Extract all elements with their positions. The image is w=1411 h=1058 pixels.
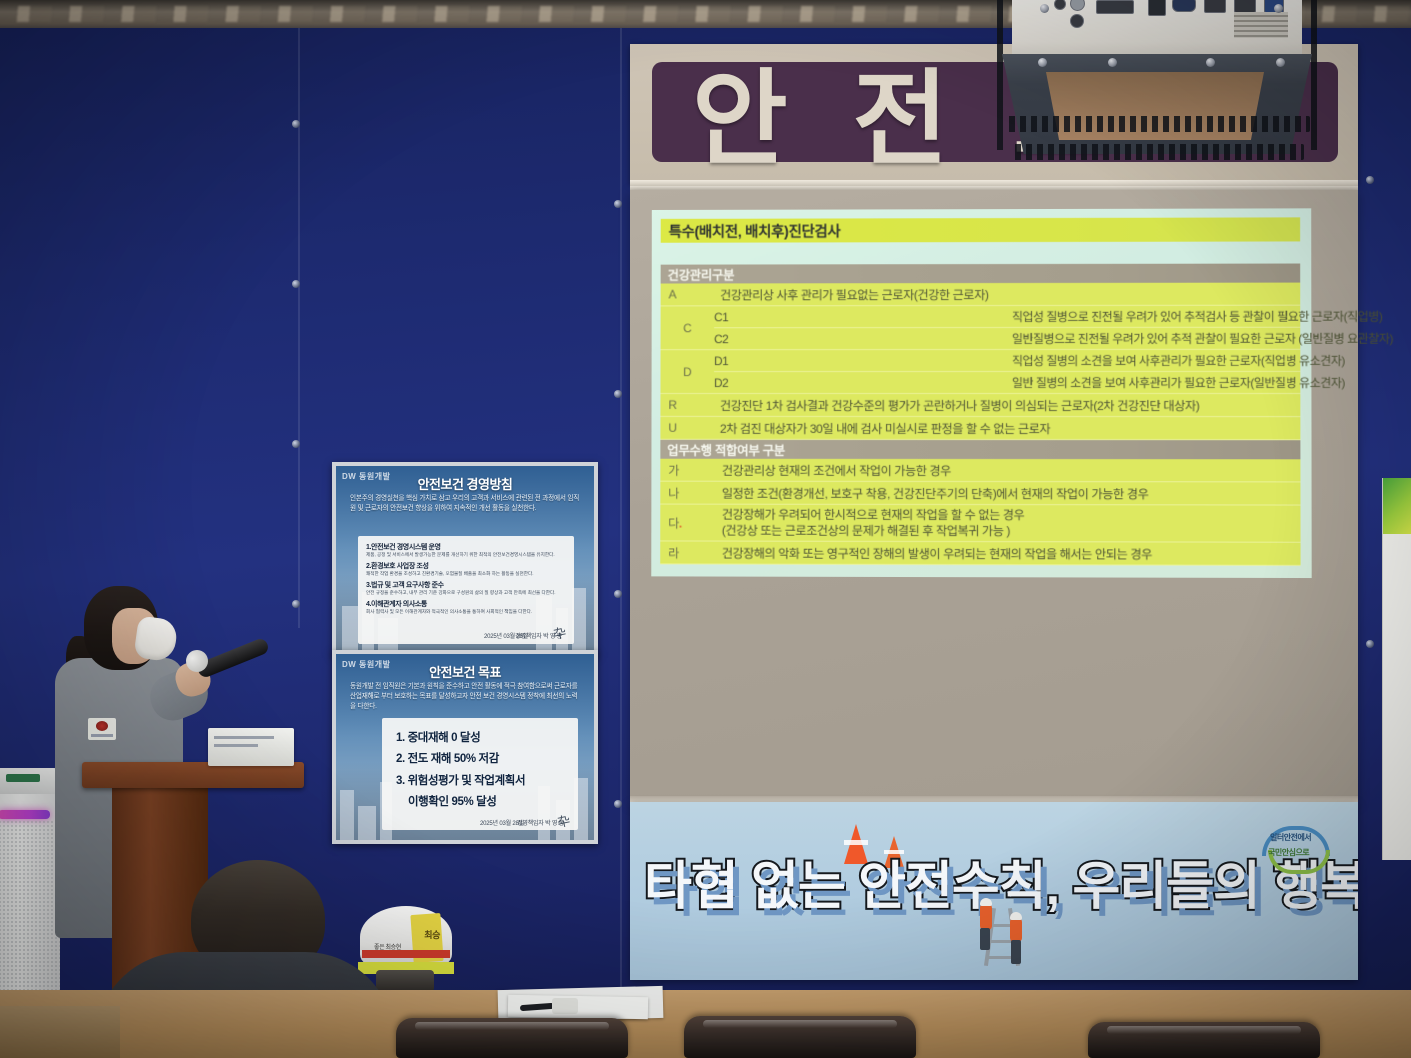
table-row: D D1 직업성 질병의 소견을 보여 사후관리가 필요한 근로자(직업병 유소… — [660, 349, 1300, 371]
helmet-sticker-text: 최승 — [424, 928, 440, 941]
tarp-seam — [620, 28, 622, 988]
projected-slide: 특수(배치전, 배치후)진단검사 건강관리구분 A 건강관리상 사후 관리가 필… — [651, 208, 1311, 578]
poster-title: 안전보건 목표 — [336, 662, 594, 681]
badge-emblem — [96, 721, 108, 731]
ceiling-projector-assembly — [988, 0, 1326, 172]
goal-3: 3. 위험성평가 및 작업계획서 — [396, 771, 568, 792]
health-classification-table: A 건강관리상 사후 관리가 필요없는 근로자(건강한 근로자) C C1 직업… — [660, 283, 1300, 441]
row-code: D — [660, 350, 714, 394]
policy-item-1: 1.안전보건 경영시스템 운영 — [366, 542, 566, 552]
row-desc: 일반질병으로 진전될 우려가 있어 추적 관찰이 필요한 근로자 (일반질병 요… — [1006, 327, 1300, 349]
logo-text-line2: 국민안심으로 — [1268, 847, 1309, 858]
row-subcode: C2 — [714, 327, 1006, 349]
slide-title: 특수(배치전, 배치후)진단검사 — [669, 220, 841, 241]
table-row: 다. 건강장해가 우려되어 한시적으로 현재의 작업을 할 수 없는 경우 (건… — [660, 504, 1300, 542]
kosha-logo: 일터안전에서 국민안심으로 — [1258, 824, 1336, 870]
goal-2: 2. 전도 재해 50% 저감 — [396, 749, 568, 770]
table-row: R 건강진단 1차 검사결과 건강수준의 평가가 곤란하거나 질병이 의심되는 … — [660, 393, 1300, 416]
policy-item-4: 4.이해관계자 의사소통 — [366, 599, 566, 609]
tarp-grommet — [292, 600, 300, 608]
row-desc: 건강진단 1차 검사결과 건강수준의 평가가 곤란하거나 질병이 의심되는 근로… — [714, 393, 1300, 416]
badge-text-line — [91, 734, 113, 737]
table-row: 나 일정한 조건(환경개선, 보호구 착용, 건강진단주기의 단축)에서 현재의… — [660, 481, 1300, 505]
tarp-grommet — [292, 280, 300, 288]
policy-item-4-sub: 회사 협력사 및 모든 이해관계자와 적극적인 의사소통을 통하여 사회적인 책… — [366, 609, 566, 616]
row-code-label: 다 — [668, 517, 679, 531]
row-code: U — [660, 416, 714, 439]
section-header-work-fitness: 업무수행 적합여부 구분 — [660, 440, 1300, 460]
row-desc: 일반 질병의 소견을 보여 사후관리가 필요한 근로자(일반질병 유소견자) — [1006, 371, 1300, 393]
chair-back — [684, 1016, 916, 1058]
table-row: 가 건강관리상 현재의 조건에서 작업이 가능한 경우 — [660, 459, 1300, 482]
table-row: U 2차 검진 대상자가 30일 내에 검사 미실시로 판정을 할 수 없는 근… — [660, 416, 1300, 439]
goal-1: 1. 중대재해 0 달성 — [396, 728, 568, 749]
cone-stripe — [844, 840, 868, 845]
table-row: C C1 직업성 질병으로 진전될 우려가 있어 추적검사 등 관찰이 필요한 … — [661, 305, 1301, 328]
tarp-grommet — [614, 800, 622, 808]
paper-text-line — [214, 736, 274, 739]
policy-item-3-sub: 안전 규정을 준수하고, 내부 관리 기준 강화으로 구성원의 삶의 질 향상과… — [366, 590, 566, 597]
row-code: A — [661, 283, 715, 305]
projector-security-cage — [988, 0, 1326, 172]
poster-goal-card: 1. 중대재해 0 달성 2. 전도 재해 50% 저감 3. 위험성평가 및 … — [382, 718, 578, 830]
podium-papers — [208, 728, 294, 766]
chair-back — [396, 1018, 628, 1058]
work-fitness-table: 가 건강관리상 현재의 조건에서 작업이 가능한 경우 나 일정한 조건(환경개… — [660, 459, 1300, 566]
purifier-top — [0, 768, 58, 794]
safety-helmet: 좋은 최승현 최승 — [356, 906, 456, 990]
row-desc-line2: (건강상 또는 근로조건상의 문제가 해결된 후 작업복귀 가능 ) — [722, 524, 1010, 539]
right-wall-poster — [1382, 478, 1411, 860]
air-purifier — [0, 768, 60, 998]
policy-item-2-sub: 쾌적한 작업 환경을 조성하고 친환경기술, 오염물질 배출을 최소화 하는 활… — [366, 571, 566, 578]
row-code: R — [660, 393, 714, 416]
row-code: 가 — [660, 459, 714, 481]
photo-scene: 안 전 교 — [0, 0, 1411, 1058]
poster-safety-policy: DW 동원개발 안전보건 경영방침 인본주의 경영실천을 핵심 가치로 삼고 우… — [332, 462, 598, 656]
row-desc: 건강관리상 사후 관리가 필요없는 근로자(건강한 근로자) — [714, 283, 1300, 306]
poster-policy-card: 1.안전보건 경영시스템 운영 제품, 공정 및 서비스에서 발생가능한 문제를… — [358, 536, 574, 644]
policy-item-1-sub: 제품, 공정 및 서비스에서 발생가능한 문제를 개선하기 위한 최적의 안전보… — [366, 552, 566, 559]
section2-header-label: 업무수행 적합여부 구분 — [667, 440, 785, 459]
tarp-grommet — [614, 200, 622, 208]
helmet-red-stripe — [362, 950, 450, 958]
paper-text-line — [214, 744, 258, 747]
row-subcode: D2 — [714, 371, 1006, 393]
cone-stripe — [884, 850, 904, 854]
table-row: D2 일반 질병의 소견을 보여 사후관리가 필요한 근로자(일반질병 유소견자… — [660, 371, 1300, 393]
row-subcode: D1 — [714, 349, 1006, 371]
logo-text-line1: 일터안전에서 — [1270, 832, 1311, 843]
poster-title: 안전보건 경영방침 — [336, 474, 594, 493]
row-code: 라 — [660, 541, 714, 564]
poster-green-graphic — [1383, 478, 1411, 534]
tarp-grommet — [292, 120, 300, 128]
poster-safety-goals: DW 동원개발 안전보건 목표 동원개발 전 임직원은 기본과 원칙을 준수하고… — [332, 650, 598, 844]
tarp-seam — [298, 28, 300, 628]
row-desc: 건강장해의 악화 또는 영구적인 장해의 발생이 우려되는 현재의 작업을 해서… — [714, 541, 1301, 565]
purifier-led-indicator — [0, 810, 50, 819]
row-code: C — [661, 306, 715, 350]
purifier-mesh — [0, 820, 60, 998]
policy-item-2: 2.환경보호 사업장 조성 — [366, 561, 566, 571]
row-code: 다. — [660, 504, 714, 541]
table-row: 라 건강장해의 악화 또는 영구적인 장해의 발생이 우려되는 현재의 작업을 … — [660, 541, 1300, 565]
goal-3-cont: 이행확인 95% 달성 — [396, 792, 568, 813]
row-desc: 직업성 질병의 소견을 보여 사후관리가 필요한 근로자(직업병 유소견자) — [1006, 349, 1300, 371]
eraser-object — [552, 998, 578, 1014]
tarp-grommet — [614, 590, 622, 598]
section-header-health-class: 건강관리구분 — [661, 264, 1301, 284]
table-row: A 건강관리상 사후 관리가 필요없는 근로자(건강한 근로자) — [661, 283, 1301, 306]
helmet-chin-strap — [376, 970, 434, 992]
row-code: 나 — [660, 481, 714, 504]
table-row: C2 일반질병으로 진전될 우려가 있어 추적 관찰이 필요한 근로자 (일반질… — [661, 327, 1301, 349]
slide-title-bar: 특수(배치전, 배치후)진단검사 — [661, 217, 1300, 242]
poster-intro: 동원개발 전 임직원은 기본과 원칙을 준수하고 안전 활동에 적극 참여함으로… — [350, 682, 582, 713]
purifier-indicator-green — [6, 774, 40, 782]
projection-screen: 특수(배치전, 배치후)진단검사 건강관리구분 A 건강관리상 사후 관리가 필… — [630, 190, 1358, 802]
laser-pointer-dot: . — [679, 517, 682, 531]
row-desc: 건강관리상 현재의 조건에서 작업이 가능한 경우 — [714, 459, 1301, 482]
policy-item-3: 3.법규 및 고객 요구사항 준수 — [366, 580, 566, 590]
row-desc: 직업성 질병으로 진전될 우려가 있어 추적검사 등 관찰이 필요한 근로자(직… — [1006, 305, 1300, 327]
row-desc-line1: 건강장해가 우려되어 한시적으로 현재의 작업을 할 수 없는 경우 — [722, 508, 1025, 523]
uniform-badge — [88, 718, 116, 740]
tarp-grommet — [1366, 640, 1374, 648]
tarp-grommet — [1366, 176, 1374, 184]
section1-header-label: 건강관리구분 — [668, 265, 735, 284]
row-desc: 2차 검진 대상자가 30일 내에 검사 미실시로 판정을 할 수 없는 근로자 — [714, 416, 1300, 439]
ladder-worker-icon — [978, 908, 1034, 970]
row-desc: 일정한 조건(환경개선, 보호구 착용, 건강진단주기의 단축)에서 현재의 작… — [714, 481, 1301, 505]
tarp-grommet — [292, 440, 300, 448]
desk-left-edge — [0, 1006, 120, 1058]
row-subcode: C1 — [714, 306, 1006, 328]
signature-mark: 卆 — [551, 622, 568, 643]
safety-slogan-banner: 타협 없는 안전수칙, 우리들의 행복수칙 일터안전에서 국민안심으로 — [630, 802, 1358, 980]
chair-back — [1088, 1022, 1320, 1058]
tarp-grommet — [614, 390, 622, 398]
row-desc: 건강장해가 우려되어 한시적으로 현재의 작업을 할 수 없는 경우 (건강상 … — [714, 504, 1301, 542]
signature-mark: 卆 — [555, 810, 572, 831]
poster-intro: 인본주의 경영실천을 핵심 가치로 삼고 우리의 고객과 서비스에 관련된 전 … — [350, 494, 582, 514]
